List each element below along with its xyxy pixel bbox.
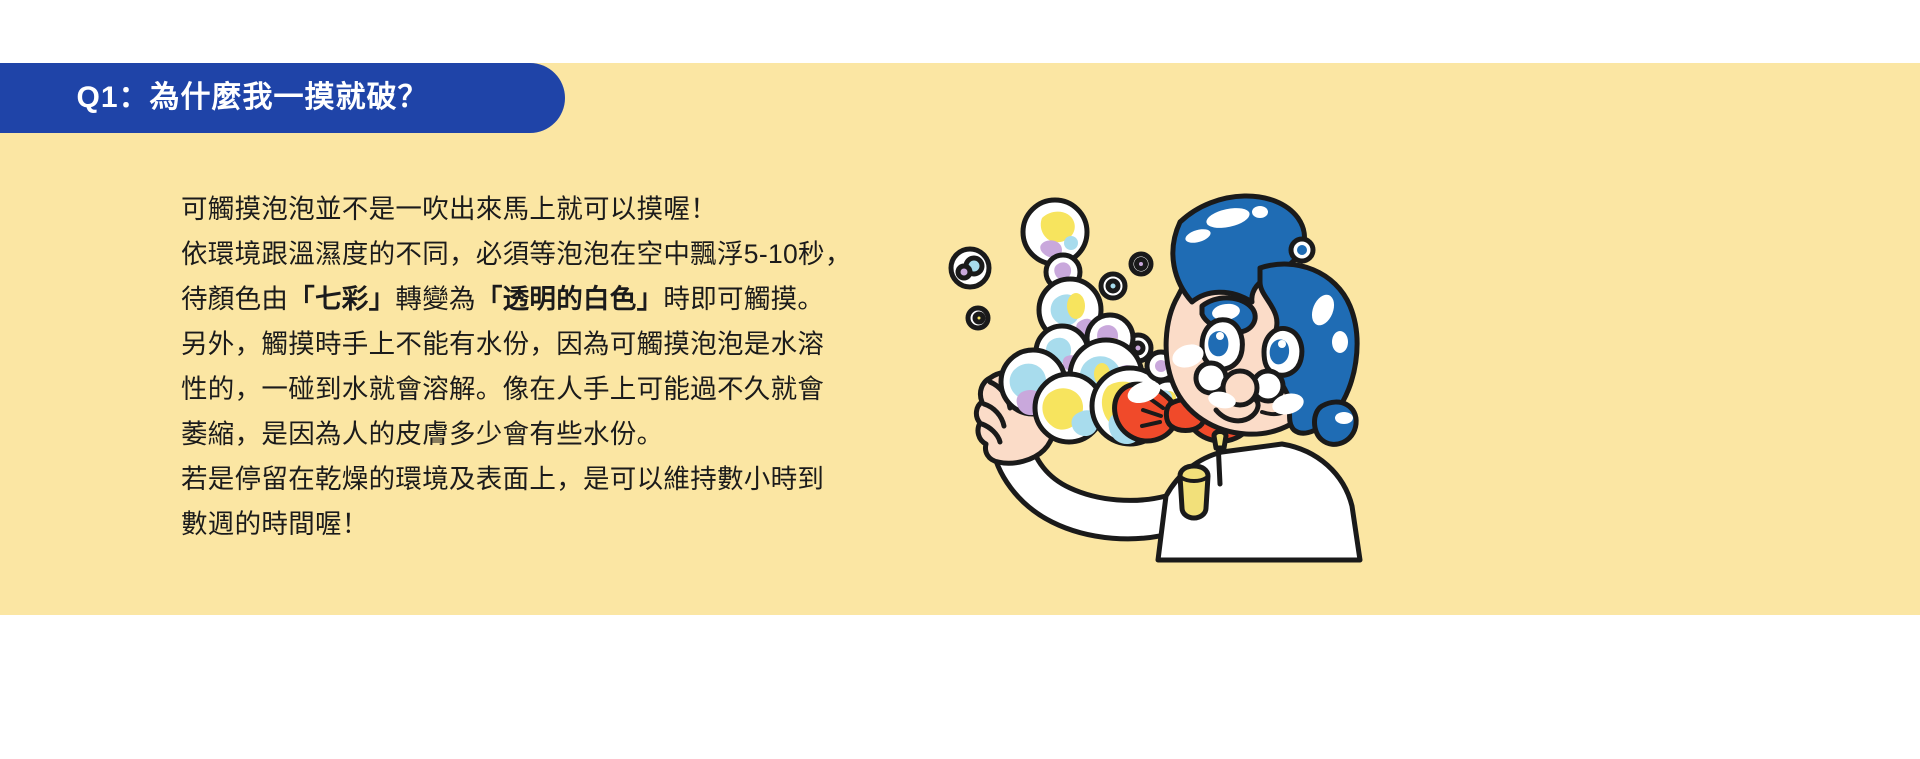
answer-emphasis: 「透明的白色」 [476,284,664,314]
answer-text: 依環境跟溫濕度的不同，必須等泡泡在空中飄浮5-10秒， [181,239,852,269]
illustration-boy-with-bubbles [930,160,1360,560]
answer-text: 時即可觸摸。 [663,284,824,314]
hair-curl-tail [1315,402,1357,444]
eye-right-glint [1278,340,1286,348]
bubble-top-cyan [1064,236,1078,250]
answer-text: 萎縮，是因為人的皮膚多少會有些水份。 [181,419,663,449]
answer-body-text: 可觸摸泡泡並不是一吹出來馬上就可以摸喔！依環境跟溫濕度的不同，必須等泡泡在空中飄… [181,187,881,547]
question-header-tab: Q1：為什麼我一摸就破？ [0,63,565,133]
answer-text: 性的，一碰到水就會溶解。像在人手上可能過不久就會 [181,374,824,404]
answer-text: 待顏色由 [181,284,288,314]
bubble-bottle [1180,466,1208,518]
bubble-tiny-left-core [975,314,983,322]
bubble-small-left-sheen2 [958,266,970,278]
bubble-col-3-yellow [1067,293,1085,319]
answer-line: 待顏色由「七彩」轉變為「透明的白色」時即可觸摸。 [181,277,881,322]
answer-text: 若是停留在乾燥的環境及表面上，是可以維持數小時到 [181,464,824,494]
answer-line: 依環境跟溫濕度的不同，必須等泡泡在空中飄浮5-10秒， [181,232,881,277]
answer-line: 萎縮，是因為人的皮膚多少會有些水份。 [181,412,881,457]
answer-text: 另外，觸摸時手上不能有水份，因為可觸摸泡泡是水溶 [181,329,824,359]
eye-left-glint [1216,332,1224,340]
answer-text: 數週的時間喔！ [181,509,369,539]
answer-line: 若是停留在乾燥的環境及表面上，是可以維持數小時到 [181,457,881,502]
hair-highlight-5 [1332,331,1348,353]
wand-top [1214,432,1226,449]
answer-line: 性的，一碰到水就會溶解。像在人手上可能過不久就會 [181,367,881,412]
answer-line: 可觸摸泡泡並不是一吹出來馬上就可以摸喔！ [181,187,881,232]
page-root: Q1：為什麼我一摸就破？ 可觸摸泡泡並不是一吹出來馬上就可以摸喔！依環境跟溫濕度… [0,0,1920,759]
hair-highlight-6 [1335,412,1353,424]
answer-line: 另外，觸摸時手上不能有水份，因為可觸摸泡泡是水溶 [181,322,881,367]
question-header-label: Q1：為什麼我一摸就破？ [76,83,428,113]
answer-line: 數週的時間喔！ [181,502,881,547]
bubble-by-head-core [1297,245,1307,255]
answer-emphasis: 「七彩」 [288,284,395,314]
bubble-tiny-mid-core [1108,281,1118,291]
hair-highlight-3 [1252,206,1268,218]
answer-text: 可觸摸泡泡並不是一吹出來馬上就可以摸喔！ [181,194,717,224]
answer-text: 轉變為 [395,284,475,314]
bubble-tiny-right-core [1137,260,1146,269]
